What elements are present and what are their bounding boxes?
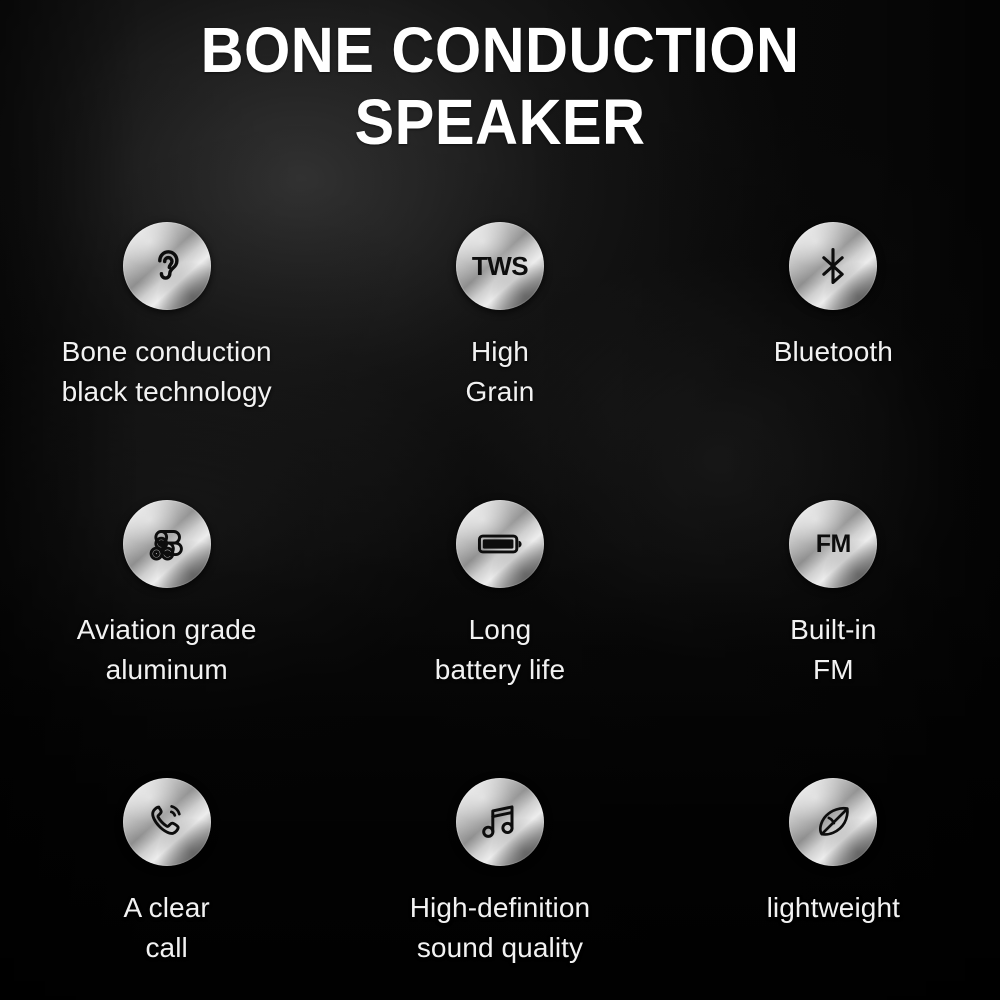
phone-call-icon <box>123 778 211 866</box>
feature-item-clear-call: A clear call <box>0 778 333 1000</box>
bluetooth-icon <box>789 222 877 310</box>
feature-item-aviation-aluminum: Aviation grade aluminum <box>0 500 333 778</box>
feature-label: Aviation grade aluminum <box>77 610 257 690</box>
feature-label: lightweight <box>767 888 900 928</box>
feature-item-hd-sound: High-definition sound quality <box>333 778 666 1000</box>
badge-music-note <box>456 778 544 866</box>
feature-label: Long battery life <box>435 610 565 690</box>
feature-label: High-definition sound quality <box>410 888 591 968</box>
feature-item-high-grain: TWS High Grain <box>333 222 666 500</box>
aluminum-tubes-icon <box>123 500 211 588</box>
feature-item-built-in-fm: FM Built-in FM <box>667 500 1000 778</box>
title-line-1: BONE CONDUCTION <box>35 14 965 86</box>
ear-icon <box>123 222 211 310</box>
badge-tws: TWS <box>456 222 544 310</box>
badge-aluminum-tubes <box>123 500 211 588</box>
feature-row-3: A clear call High-definition sound quali… <box>0 778 1000 1000</box>
badge-ear <box>123 222 211 310</box>
badge-feather <box>789 778 877 866</box>
feature-label: Bluetooth <box>774 332 893 372</box>
feature-label: A clear call <box>124 888 210 968</box>
badge-fm: FM <box>789 500 877 588</box>
badge-battery <box>456 500 544 588</box>
product-feature-poster: BONE CONDUCTION SPEAKER Bone conduction … <box>0 0 1000 1000</box>
feature-item-bone-conduction: Bone conduction black technology <box>0 222 333 500</box>
feather-icon <box>789 778 877 866</box>
feature-label: Bone conduction black technology <box>62 332 272 412</box>
tws-text-icon: TWS <box>472 253 528 279</box>
feature-label: Built-in FM <box>790 610 876 690</box>
fm-text-icon: FM <box>816 532 851 557</box>
page-title: BONE CONDUCTION SPEAKER <box>0 14 1000 158</box>
feature-item-lightweight: lightweight <box>667 778 1000 1000</box>
title-line-2: SPEAKER <box>35 86 965 158</box>
feature-item-long-battery: Long battery life <box>333 500 666 778</box>
music-note-icon <box>456 778 544 866</box>
battery-icon <box>456 500 544 588</box>
badge-bluetooth <box>789 222 877 310</box>
feature-grid: Bone conduction black technology TWS Hig… <box>0 222 1000 1000</box>
feature-item-bluetooth: Bluetooth <box>667 222 1000 500</box>
feature-row-2: Aviation grade aluminum Long battery lif… <box>0 500 1000 778</box>
badge-phone-call <box>123 778 211 866</box>
feature-label: High Grain <box>466 332 535 412</box>
feature-row-1: Bone conduction black technology TWS Hig… <box>0 222 1000 500</box>
